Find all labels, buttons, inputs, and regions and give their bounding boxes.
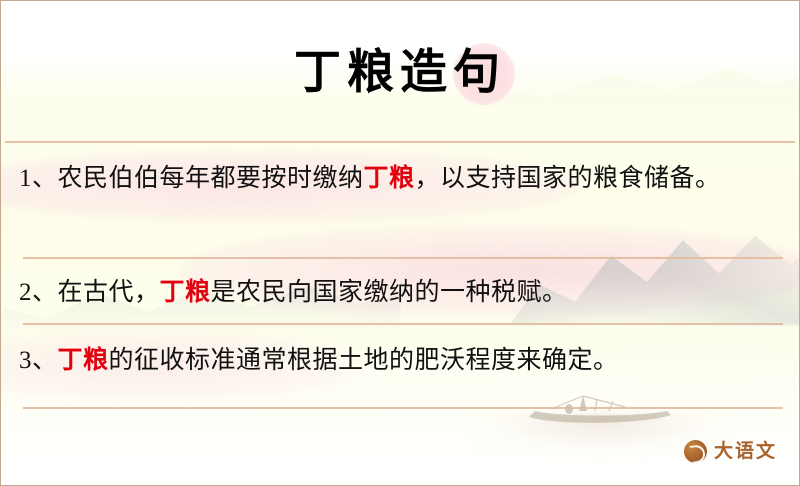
keyword-highlight: 丁粮	[160, 279, 211, 306]
keyword-highlight: 丁粮	[364, 165, 415, 192]
sentence-index: 3、	[19, 347, 58, 374]
page-title: 丁粮造句	[1, 49, 799, 96]
example-sentence-1: 1、农民伯伯每年都要按时缴纳丁粮，以支持国家的粮食储备。	[19, 159, 777, 200]
keyword-highlight: 丁粮	[58, 347, 109, 374]
brand-name-label: 大语文	[714, 442, 777, 461]
brand-logo: 大语文	[684, 440, 777, 463]
divider-line-4	[23, 407, 783, 409]
sentence-text: 农民伯伯每年都要按时缴纳	[58, 165, 364, 192]
sentence-text: 是农民向国家缴纳的一种税赋。	[211, 279, 568, 306]
divider-line-1	[5, 141, 795, 143]
example-sentence-3: 3、丁粮的征收标准通常根据土地的肥沃程度来确定。	[19, 341, 777, 382]
slide-canvas: 丁粮造句 1、农民伯伯每年都要按时缴纳丁粮，以支持国家的粮食储备。 2、在古代，…	[0, 0, 800, 486]
sentence-index: 2、	[19, 279, 58, 306]
sentence-index: 1、	[19, 165, 58, 192]
sentence-text: 在古代，	[58, 279, 160, 306]
brand-mark-icon	[684, 440, 707, 463]
sentence-text: 的征收标准通常根据土地的肥沃程度来确定。	[109, 347, 619, 374]
divider-line-2	[23, 257, 783, 259]
example-sentence-2: 2、在古代，丁粮是农民向国家缴纳的一种税赋。	[19, 273, 777, 314]
sentence-text: ，以支持国家的粮食储备。	[415, 165, 721, 192]
divider-line-3	[23, 323, 783, 325]
